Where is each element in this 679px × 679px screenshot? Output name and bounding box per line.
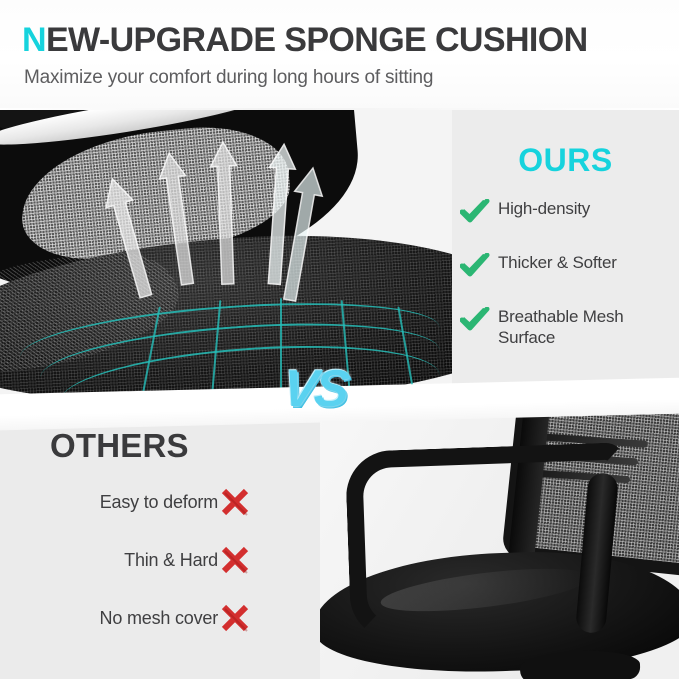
list-item-label: Easy to deform [100, 492, 218, 513]
list-item: Easy to deform [0, 487, 250, 517]
check-icon [460, 199, 490, 225]
vs-badge: VS [280, 360, 349, 418]
others-heading: OTHERS [50, 427, 189, 465]
check-icon [460, 253, 490, 279]
list-item-label: Thin & Hard [124, 550, 218, 571]
others-panel: OTHERS Easy to deform Thin & Hard [0, 405, 679, 679]
title-accent-letter: N [22, 21, 46, 59]
list-item: Thin & Hard [0, 545, 250, 575]
list-item-label: No mesh cover [100, 608, 218, 629]
ours-heading: OURS [452, 142, 679, 179]
cross-icon [220, 546, 250, 574]
list-item-label: Thicker & Softer [498, 252, 617, 273]
list-item: Thicker & Softer [460, 252, 679, 282]
infographic-page: NEW-UPGRADE SPONGE CUSHION Maximize your… [0, 0, 679, 679]
check-icon [460, 307, 490, 333]
list-item-label: Breathable Mesh Surface [498, 306, 679, 348]
list-item: High-density [460, 198, 679, 228]
airflow-arrow-icon [207, 138, 244, 289]
header-divider [0, 108, 679, 110]
airflow-contour-line [280, 298, 282, 402]
cross-icon [220, 488, 250, 516]
cross-icon [220, 604, 250, 632]
ours-chair-photo [0, 110, 452, 405]
others-feature-block: OTHERS Easy to deform Thin & Hard [0, 405, 320, 679]
others-feature-list: Easy to deform Thin & Hard [0, 487, 250, 661]
list-item: No mesh cover [0, 603, 250, 633]
page-title: NEW-UPGRADE SPONGE CUSHION [22, 20, 588, 60]
others-chair-photo [320, 405, 679, 679]
title-rest: EW-UPGRADE SPONGE CUSHION [46, 21, 588, 59]
list-item-label: High-density [498, 198, 590, 219]
list-item: Breathable Mesh Surface [460, 306, 679, 348]
page-subtitle: Maximize your comfort during long hours … [24, 67, 433, 89]
header-banner: NEW-UPGRADE SPONGE CUSHION Maximize your… [0, 0, 679, 110]
ours-feature-list: High-density Thicker & Softer [460, 198, 679, 372]
ours-feature-block: OURS High-density [452, 110, 679, 405]
